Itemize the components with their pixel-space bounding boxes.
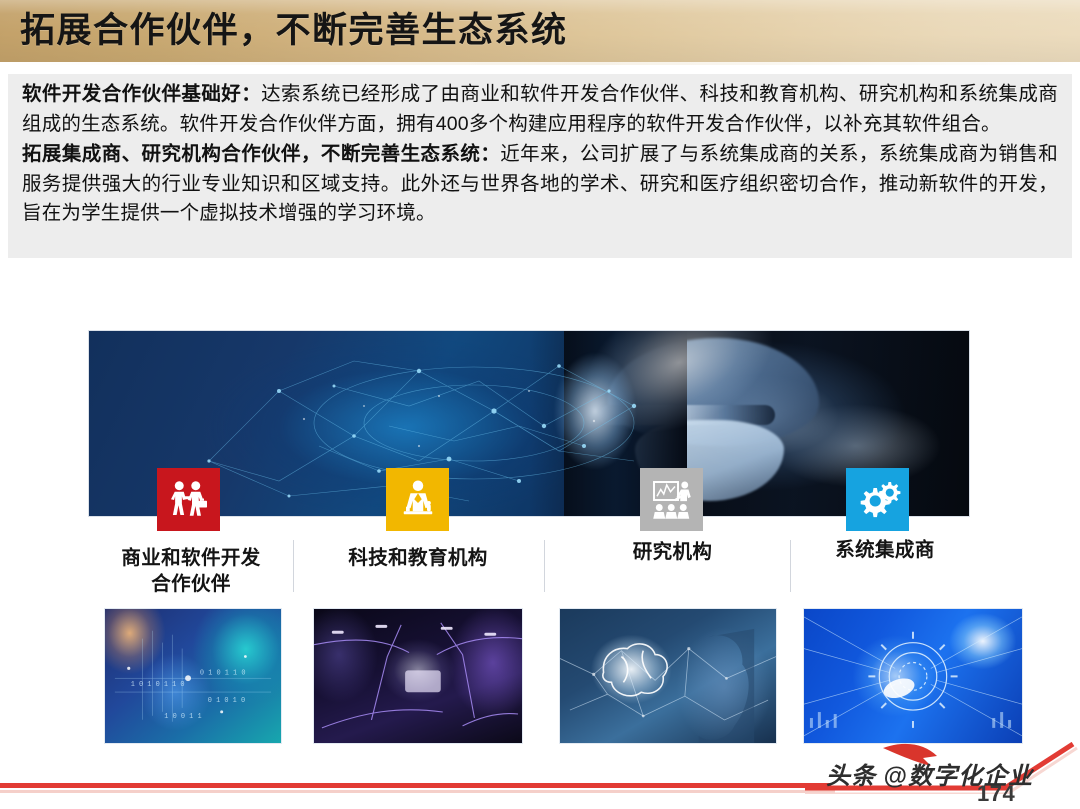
category-label-0: 商业和软件开发 合作伙伴 [96, 545, 286, 597]
education-presenter-glyph [394, 476, 442, 524]
brain-researcher-thumbnail [559, 608, 777, 744]
watermark-prefix: 头条 [826, 763, 884, 790]
category-label-1-line1: 科技和教育机构 [323, 545, 513, 571]
handshake-partners-icon[interactable] [157, 468, 220, 531]
slide-header: 拓展合作伙伴，不断完善生态系统 [0, 0, 1080, 62]
hero-banner-image [89, 331, 969, 516]
paragraph-1-lead: 软件开发合作伙伴基础好： [22, 83, 261, 105]
svg-text:1 0 1 0 1 1 0: 1 0 1 0 1 1 0 [131, 681, 185, 689]
category-label-0-line1: 商业和软件开发 [96, 545, 286, 571]
svg-text:1 0 0 1 1: 1 0 0 1 1 [164, 713, 201, 721]
blue-tech-tunnel-thumbnail [803, 608, 1023, 744]
svg-text:0 1 0 1 0: 0 1 0 1 0 [208, 697, 245, 705]
category-label-3: 系统集成商 [780, 537, 990, 563]
lab-lighting-overlay-icon [314, 609, 522, 744]
slide-root: 拓展合作伙伴，不断完善生态系统 软件开发合作伙伴基础好：达索系统已经形成了由商业… [0, 0, 1080, 809]
neuron-brain-overlay-icon [560, 609, 776, 744]
category-label-3-line1: 系统集成商 [780, 537, 990, 563]
education-presenter-icon[interactable] [386, 468, 449, 531]
category-label-2-line1: 研究机构 [575, 539, 770, 565]
tech-lab-interior-thumbnail [313, 608, 523, 744]
category-label-0-line2: 合作伙伴 [96, 571, 286, 597]
footer-rule-pale [0, 790, 835, 793]
page-number: 174 [977, 781, 1015, 807]
watermark-at-symbol: @ [884, 763, 908, 790]
footer-rule [0, 783, 830, 788]
paragraph-2: 拓展集成商、研究机构合作伙伴，不断完善生态系统：近年来，公司扩展了与系统集成商的… [22, 140, 1058, 229]
category-label-2: 研究机构 [575, 539, 770, 565]
category-label-1: 科技和教育机构 [323, 545, 513, 571]
column-divider-2 [544, 540, 545, 592]
svg-text:0 1 0 1 1 0: 0 1 0 1 1 0 [200, 669, 246, 677]
research-chart-audience-glyph [648, 476, 696, 524]
handshake-partners-glyph [165, 476, 213, 524]
tech-tunnel-overlay-icon [804, 609, 1022, 744]
gears-integration-glyph [854, 476, 902, 524]
body-text-panel: 软件开发合作伙伴基础好：达索系统已经形成了由商业和软件开发合作伙伴、科技和教育机… [8, 74, 1072, 258]
network-mesh-icon [89, 331, 969, 516]
page-title: 拓展合作伙伴，不断完善生态系统 [20, 6, 568, 56]
data-visualization-thumbnail: 1 0 1 0 1 1 0 0 1 0 1 1 0 0 1 0 1 0 1 0 … [104, 608, 282, 744]
paragraph-1: 软件开发合作伙伴基础好：达索系统已经形成了由商业和软件开发合作伙伴、科技和教育机… [22, 80, 1058, 139]
paragraph-2-lead: 拓展集成商、研究机构合作伙伴，不断完善生态系统： [22, 143, 500, 165]
header-underline [0, 62, 1080, 65]
column-divider-1 [293, 540, 294, 592]
gears-integration-icon[interactable] [846, 468, 909, 531]
binary-data-overlay-icon: 1 0 1 0 1 1 0 0 1 0 1 1 0 0 1 0 1 0 1 0 … [105, 609, 281, 743]
research-chart-audience-icon[interactable] [640, 468, 703, 531]
column-divider-3 [790, 540, 791, 592]
